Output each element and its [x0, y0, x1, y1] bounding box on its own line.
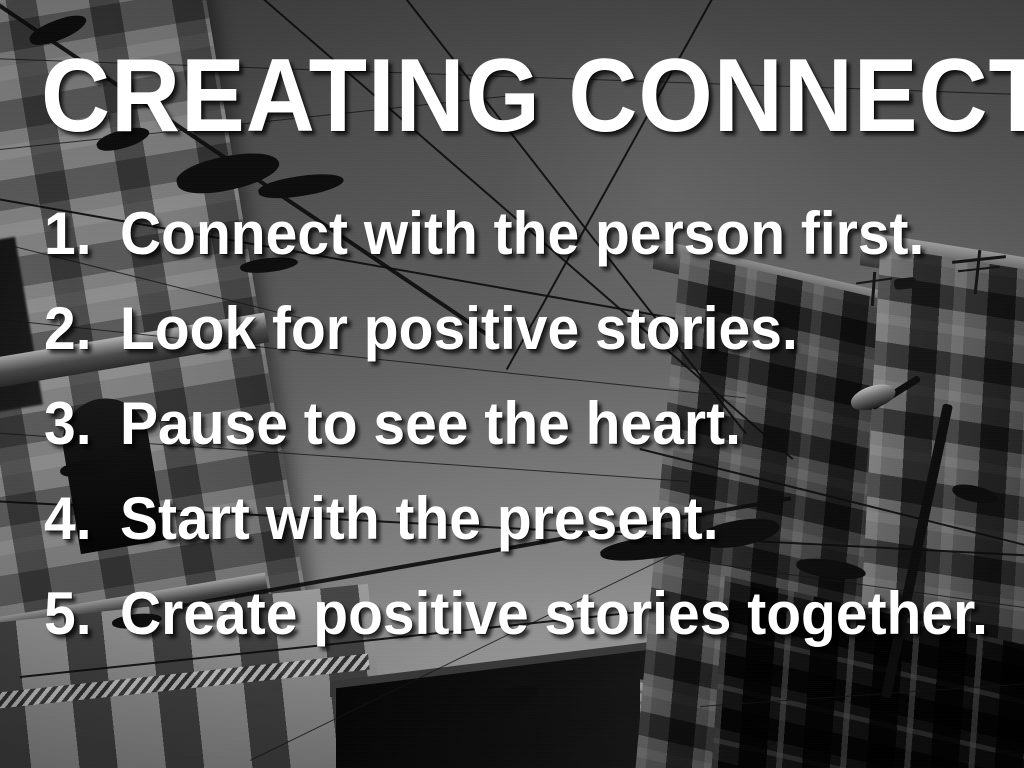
- list-item: 1. Connect with the person first.: [44, 186, 1004, 281]
- list-item-text: Pause to see the heart.: [120, 376, 741, 471]
- list-item-text: Start with the present.: [120, 471, 719, 566]
- list-item-text: Look for positive stories.: [120, 281, 798, 376]
- list-item: 4. Start with the present.: [44, 471, 1004, 566]
- list-item-number: 3.: [44, 376, 116, 471]
- numbered-list: 1. Connect with the person first. 2. Loo…: [44, 186, 1004, 661]
- list-item-text: Create positive stories together.: [120, 566, 988, 661]
- list-item: 5. Create positive stories together.: [44, 566, 1004, 661]
- list-item: 2. Look for positive stories.: [44, 281, 1004, 376]
- list-item-text: Connect with the person first.: [120, 186, 924, 281]
- slide-text-layer: CREATING CONNECTIONS 1. Connect with the…: [0, 0, 1024, 768]
- list-item-number: 1.: [44, 186, 116, 281]
- list-item: 3. Pause to see the heart.: [44, 376, 1004, 471]
- presentation-slide: CREATING CONNECTIONS 1. Connect with the…: [0, 0, 1024, 768]
- slide-title: CREATING CONNECTIONS: [41, 44, 983, 148]
- list-item-number: 2.: [44, 281, 116, 376]
- list-item-number: 4.: [44, 471, 116, 566]
- list-item-number: 5.: [44, 566, 116, 661]
